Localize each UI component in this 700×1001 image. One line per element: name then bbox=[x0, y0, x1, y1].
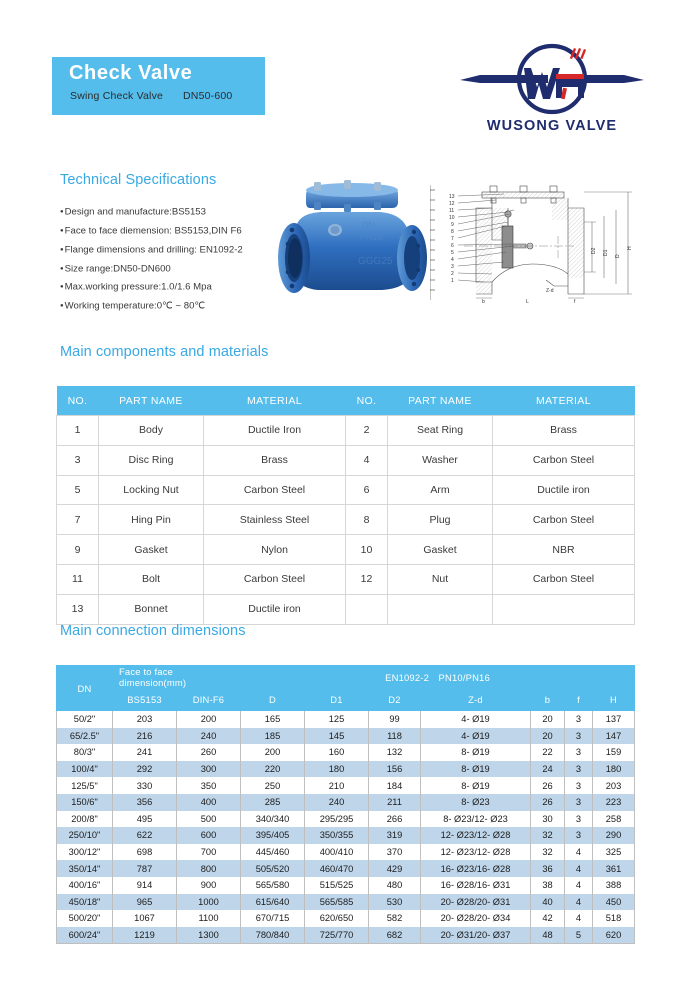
cell: 700 bbox=[177, 844, 241, 861]
cell: 5 bbox=[565, 927, 593, 944]
svg-text:11: 11 bbox=[449, 208, 454, 214]
brand-logo: WUSONG VALVE bbox=[452, 42, 652, 148]
cell: 515/525 bbox=[305, 877, 369, 894]
table-row: 5 Locking Nut Carbon Steel 6 Arm Ductile… bbox=[57, 475, 635, 505]
svg-text:4: 4 bbox=[451, 257, 454, 263]
cell: 350/14" bbox=[57, 860, 113, 877]
col-d2: D2 bbox=[369, 689, 421, 711]
table-row: 1 Body Ductile Iron 2 Seat Ring Brass bbox=[57, 416, 635, 446]
cell: 1 bbox=[57, 416, 99, 446]
cell: 20- Ø28/20- Ø31 bbox=[421, 894, 531, 911]
cell: 3 bbox=[565, 794, 593, 811]
page-title: Check Valve bbox=[69, 62, 192, 85]
cell bbox=[388, 594, 493, 624]
cell: 250/10" bbox=[57, 827, 113, 844]
cell: Gasket bbox=[388, 535, 493, 565]
cell: 4 bbox=[565, 894, 593, 911]
cell: Seat Ring bbox=[388, 416, 493, 446]
cell: 620 bbox=[593, 927, 635, 944]
cell: 12- Ø23/12- Ø28 bbox=[421, 827, 531, 844]
svg-text:5: 5 bbox=[451, 250, 454, 256]
cell: Nut bbox=[388, 564, 493, 594]
cell: 292 bbox=[113, 761, 177, 778]
scale-ruler bbox=[430, 185, 436, 300]
cell: 9 bbox=[57, 535, 99, 565]
cell: 300 bbox=[177, 761, 241, 778]
cell: 211 bbox=[369, 794, 421, 811]
cell: 258 bbox=[593, 811, 635, 828]
spec-item: Working temperature:0℃ ~ 80℃ bbox=[60, 297, 290, 316]
table-row: 13 Bonnet Ductile iron bbox=[57, 594, 635, 624]
cell: 300/12" bbox=[57, 844, 113, 861]
cell: 180 bbox=[305, 761, 369, 778]
col-bs5153: BS5153 bbox=[113, 689, 177, 711]
cell: 241 bbox=[113, 744, 177, 761]
table-row: 80/3" 241 260 200 160 132 8- Ø19 22 3 15… bbox=[57, 744, 635, 761]
cell: 290 bbox=[593, 827, 635, 844]
svg-text:6: 6 bbox=[451, 243, 454, 249]
cell: 620/650 bbox=[305, 910, 369, 927]
cell: 600 bbox=[177, 827, 241, 844]
table-row: 100/4" 292 300 220 180 156 8- Ø19 24 3 1… bbox=[57, 761, 635, 778]
cell: 900 bbox=[177, 877, 241, 894]
cell: 450 bbox=[593, 894, 635, 911]
cell: Brass bbox=[204, 445, 346, 475]
cell: Gasket bbox=[99, 535, 204, 565]
cell: 210 bbox=[305, 777, 369, 794]
cell: 48 bbox=[531, 927, 565, 944]
svg-text:D: D bbox=[615, 254, 621, 258]
svg-text:Z-d: Z-d bbox=[546, 288, 554, 294]
cell: 165 bbox=[241, 711, 305, 728]
cell: 445/460 bbox=[241, 844, 305, 861]
cell: 99 bbox=[369, 711, 421, 728]
cell: 4 bbox=[565, 910, 593, 927]
svg-text:10: 10 bbox=[449, 215, 455, 221]
cell: 2 bbox=[346, 416, 388, 446]
table-row: 150/6" 356 400 285 240 211 8- Ø23 26 3 2… bbox=[57, 794, 635, 811]
cell: 20 bbox=[531, 728, 565, 745]
spec-item: Face to face diemension: BS5153,DIN F6 bbox=[60, 222, 290, 241]
table-row: 11 Bolt Carbon Steel 12 Nut Carbon Steel bbox=[57, 564, 635, 594]
cell: 240 bbox=[177, 728, 241, 745]
table-row: 500/20" 1067 1100 670/715 620/650 582 20… bbox=[57, 910, 635, 927]
cell: 32 bbox=[531, 827, 565, 844]
cell: 260 bbox=[177, 744, 241, 761]
cell: 203 bbox=[113, 711, 177, 728]
svg-text:H: H bbox=[627, 246, 633, 250]
valve-product-photo: DN PN16 GGG25 bbox=[262, 178, 442, 308]
cell: Hing Pin bbox=[99, 505, 204, 535]
table-row: 125/5" 330 350 250 210 184 8- Ø19 26 3 2… bbox=[57, 777, 635, 794]
cell: 3 bbox=[565, 744, 593, 761]
col-material-2: MATERIAL bbox=[493, 386, 635, 416]
cell: 670/715 bbox=[241, 910, 305, 927]
cell: 5 bbox=[57, 475, 99, 505]
spec-item: Size range:DN50-DN600 bbox=[60, 260, 290, 279]
cell: Nylon bbox=[204, 535, 346, 565]
col-no-1: NO. bbox=[57, 386, 99, 416]
table-header-row: BS5153 DIN-F6 D D1 D2 Z-d b f H bbox=[57, 689, 635, 711]
table-row: 450/18" 965 1000 615/640 565/585 530 20-… bbox=[57, 894, 635, 911]
cell: 480 bbox=[369, 877, 421, 894]
cell: 1000 bbox=[177, 894, 241, 911]
cell: Locking Nut bbox=[99, 475, 204, 505]
cell: 914 bbox=[113, 877, 177, 894]
svg-text:9: 9 bbox=[451, 222, 454, 228]
cell: 26 bbox=[531, 777, 565, 794]
cell: 565/585 bbox=[305, 894, 369, 911]
cell: 4 bbox=[565, 877, 593, 894]
cell: 800 bbox=[177, 860, 241, 877]
svg-text:1: 1 bbox=[451, 278, 454, 284]
cell: 361 bbox=[593, 860, 635, 877]
cell: 10 bbox=[346, 535, 388, 565]
table-header-row: NO. PART NAME MATERIAL NO. PART NAME MAT… bbox=[57, 386, 635, 416]
col-material-1: MATERIAL bbox=[204, 386, 346, 416]
cell: 1100 bbox=[177, 910, 241, 927]
cell: 395/405 bbox=[241, 827, 305, 844]
cell bbox=[493, 594, 635, 624]
technical-specifications-heading: Technical Specifications bbox=[60, 172, 216, 188]
table-row: 200/8" 495 500 340/340 295/295 266 8- Ø2… bbox=[57, 811, 635, 828]
cell: 240 bbox=[305, 794, 369, 811]
cell: Ductile iron bbox=[204, 594, 346, 624]
cell: 6 bbox=[346, 475, 388, 505]
cell: 156 bbox=[369, 761, 421, 778]
cell: Washer bbox=[388, 445, 493, 475]
group-face-to-face: Face to face dimension(mm) bbox=[113, 666, 241, 689]
table-row: 7 Hing Pin Stainless Steel 8 Plug Carbon… bbox=[57, 505, 635, 535]
cell: 184 bbox=[369, 777, 421, 794]
table-row: 350/14" 787 800 505/520 460/470 429 16- … bbox=[57, 860, 635, 877]
cell: 400 bbox=[177, 794, 241, 811]
cell: 350/355 bbox=[305, 827, 369, 844]
cell: 4 bbox=[565, 844, 593, 861]
cell: Brass bbox=[493, 416, 635, 446]
cell: 50/2" bbox=[57, 711, 113, 728]
table-row: 50/2" 203 200 165 125 99 4- Ø19 20 3 137 bbox=[57, 711, 635, 728]
cell: 266 bbox=[369, 811, 421, 828]
valve-technical-drawing: 131211 1098 765 432 1 Z-d b f L D2 D1 D … bbox=[446, 182, 646, 304]
cell: 530 bbox=[369, 894, 421, 911]
cell: 30 bbox=[531, 811, 565, 828]
col-b: b bbox=[531, 689, 565, 711]
cell: 400/410 bbox=[305, 844, 369, 861]
cell: NBR bbox=[493, 535, 635, 565]
spec-item: Max.working pressure:1.0/1.6 Mpa bbox=[60, 278, 290, 297]
cell: 8- Ø23 bbox=[421, 794, 531, 811]
cell: 518 bbox=[593, 910, 635, 927]
cell: 500 bbox=[177, 811, 241, 828]
cell: 16- Ø28/16- Ø31 bbox=[421, 877, 531, 894]
cell: 3 bbox=[565, 777, 593, 794]
svg-text:DN: DN bbox=[362, 220, 375, 230]
cell: 118 bbox=[369, 728, 421, 745]
table-header-group-row: DN Face to face dimension(mm) EN1092-2 P… bbox=[57, 666, 635, 689]
cell: 3 bbox=[57, 445, 99, 475]
svg-text:GGG25: GGG25 bbox=[358, 256, 393, 267]
cell: 223 bbox=[593, 794, 635, 811]
cell: 8- Ø19 bbox=[421, 744, 531, 761]
cell: Carbon Steel bbox=[204, 475, 346, 505]
group-en1092: EN1092-2 PN10/PN16 bbox=[241, 666, 635, 689]
main-connection-dimensions-table: DN Face to face dimension(mm) EN1092-2 P… bbox=[56, 665, 635, 944]
cell: 150/6" bbox=[57, 794, 113, 811]
svg-text:b: b bbox=[482, 299, 485, 304]
cell: Carbon Steel bbox=[493, 505, 635, 535]
cell: 450/18" bbox=[57, 894, 113, 911]
main-connection-dimensions-heading: Main connection dimensions bbox=[60, 623, 246, 639]
cell: 180 bbox=[593, 761, 635, 778]
svg-text:7: 7 bbox=[451, 236, 454, 242]
cell: Disc Ring bbox=[99, 445, 204, 475]
col-no-2: NO. bbox=[346, 386, 388, 416]
col-dn: DN bbox=[57, 666, 113, 711]
cell: 356 bbox=[113, 794, 177, 811]
cell: 285 bbox=[241, 794, 305, 811]
svg-text:L: L bbox=[526, 299, 529, 304]
cell: 24 bbox=[531, 761, 565, 778]
cell: 350 bbox=[177, 777, 241, 794]
page-size-range: DN50-600 bbox=[183, 90, 232, 102]
cell: Bolt bbox=[99, 564, 204, 594]
cell: Stainless Steel bbox=[204, 505, 346, 535]
cell: 4 bbox=[565, 860, 593, 877]
cell: 137 bbox=[593, 711, 635, 728]
cell: 20 bbox=[531, 711, 565, 728]
cell: 682 bbox=[369, 927, 421, 944]
technical-specifications-list: Design and manufacture:BS5153 Face to fa… bbox=[60, 203, 290, 316]
cell: 12 bbox=[346, 564, 388, 594]
main-components-heading: Main components and materials bbox=[60, 344, 268, 360]
cell: Carbon Steel bbox=[204, 564, 346, 594]
cell: Carbon Steel bbox=[493, 564, 635, 594]
svg-text:PN16: PN16 bbox=[360, 232, 383, 242]
cell: 12- Ø23/12- Ø28 bbox=[421, 844, 531, 861]
cell: 11 bbox=[57, 564, 99, 594]
cell: 185 bbox=[241, 728, 305, 745]
svg-text:8: 8 bbox=[451, 229, 454, 235]
cell: 698 bbox=[113, 844, 177, 861]
cell: 8- Ø19 bbox=[421, 761, 531, 778]
cell: 200/8" bbox=[57, 811, 113, 828]
wusong-logo-icon bbox=[452, 42, 652, 120]
cell: 3 bbox=[565, 711, 593, 728]
cell: Arm bbox=[388, 475, 493, 505]
cell: 8- Ø19 bbox=[421, 777, 531, 794]
svg-text:f: f bbox=[574, 299, 576, 304]
table-row: 300/12" 698 700 445/460 400/410 370 12- … bbox=[57, 844, 635, 861]
col-din-f6: DIN-F6 bbox=[177, 689, 241, 711]
cell: 20- Ø28/20- Ø34 bbox=[421, 910, 531, 927]
cell: 295/295 bbox=[305, 811, 369, 828]
cell: 200 bbox=[177, 711, 241, 728]
cell: 220 bbox=[241, 761, 305, 778]
cell: 1067 bbox=[113, 910, 177, 927]
cell: 340/340 bbox=[241, 811, 305, 828]
cell: 8 bbox=[346, 505, 388, 535]
cell: 32 bbox=[531, 844, 565, 861]
cell: 615/640 bbox=[241, 894, 305, 911]
cell: 125/5" bbox=[57, 777, 113, 794]
table-row: 9 Gasket Nylon 10 Gasket NBR bbox=[57, 535, 635, 565]
cell: 725/770 bbox=[305, 927, 369, 944]
table-row: 65/2.5" 216 240 185 145 118 4- Ø19 20 3 … bbox=[57, 728, 635, 745]
title-banner: Check Valve Swing Check Valve DN50-600 bbox=[52, 57, 265, 115]
cell: 460/470 bbox=[305, 860, 369, 877]
cell: 26 bbox=[531, 794, 565, 811]
svg-text:D1: D1 bbox=[603, 249, 609, 256]
cell: 65/2.5" bbox=[57, 728, 113, 745]
cell: 330 bbox=[113, 777, 177, 794]
col-part-name-1: PART NAME bbox=[99, 386, 204, 416]
cell: 500/20" bbox=[57, 910, 113, 927]
cell: 400/16" bbox=[57, 877, 113, 894]
cell bbox=[346, 594, 388, 624]
cell: 787 bbox=[113, 860, 177, 877]
cell: 325 bbox=[593, 844, 635, 861]
cell: 565/580 bbox=[241, 877, 305, 894]
cell: Bonnet bbox=[99, 594, 204, 624]
spec-item: Flange dimensions and drilling: EN1092-2 bbox=[60, 241, 290, 260]
col-part-name-2: PART NAME bbox=[388, 386, 493, 416]
svg-text:D2: D2 bbox=[591, 247, 597, 254]
cell: 582 bbox=[369, 910, 421, 927]
svg-text:2: 2 bbox=[451, 271, 454, 277]
cell: 147 bbox=[593, 728, 635, 745]
cell: 780/840 bbox=[241, 927, 305, 944]
col-z-d: Z-d bbox=[421, 689, 531, 711]
cell: 3 bbox=[565, 728, 593, 745]
cell: 125 bbox=[305, 711, 369, 728]
cell: Carbon Steel bbox=[493, 445, 635, 475]
cell: 600/24" bbox=[57, 927, 113, 944]
page-subtitle: Swing Check Valve bbox=[70, 90, 163, 102]
cell: 388 bbox=[593, 877, 635, 894]
brand-name: WUSONG VALVE bbox=[452, 118, 652, 134]
cell: 250 bbox=[241, 777, 305, 794]
cell: 40 bbox=[531, 894, 565, 911]
cell: 965 bbox=[113, 894, 177, 911]
table-row: 3 Disc Ring Brass 4 Washer Carbon Steel bbox=[57, 445, 635, 475]
cell: 36 bbox=[531, 860, 565, 877]
col-d1: D1 bbox=[305, 689, 369, 711]
cell: 159 bbox=[593, 744, 635, 761]
cell: 20- Ø31/20- Ø37 bbox=[421, 927, 531, 944]
svg-text:3: 3 bbox=[451, 264, 454, 270]
cell: 3 bbox=[565, 827, 593, 844]
cell: 13 bbox=[57, 594, 99, 624]
cell: 203 bbox=[593, 777, 635, 794]
cell: Body bbox=[99, 416, 204, 446]
spec-item: Design and manufacture:BS5153 bbox=[60, 203, 290, 222]
cell: 1300 bbox=[177, 927, 241, 944]
cell: 4 bbox=[346, 445, 388, 475]
cell: 4- Ø19 bbox=[421, 711, 531, 728]
cell: 16- Ø23/16- Ø28 bbox=[421, 860, 531, 877]
cell: 3 bbox=[565, 761, 593, 778]
table-row: 250/10" 622 600 395/405 350/355 319 12- … bbox=[57, 827, 635, 844]
page-header: Check Valve Swing Check Valve DN50-600 W… bbox=[0, 0, 700, 160]
col-f: f bbox=[565, 689, 593, 711]
cell: 160 bbox=[305, 744, 369, 761]
cell: 319 bbox=[369, 827, 421, 844]
table-row: 600/24" 1219 1300 780/840 725/770 682 20… bbox=[57, 927, 635, 944]
cell: Ductile Iron bbox=[204, 416, 346, 446]
svg-text:13: 13 bbox=[449, 194, 455, 200]
cell: 505/520 bbox=[241, 860, 305, 877]
cell: 42 bbox=[531, 910, 565, 927]
cell: 216 bbox=[113, 728, 177, 745]
cell: 100/4" bbox=[57, 761, 113, 778]
main-components-table: NO. PART NAME MATERIAL NO. PART NAME MAT… bbox=[56, 386, 635, 625]
cell: 429 bbox=[369, 860, 421, 877]
cell: 80/3" bbox=[57, 744, 113, 761]
col-h: H bbox=[593, 689, 635, 711]
cell: 3 bbox=[565, 811, 593, 828]
cell: 1219 bbox=[113, 927, 177, 944]
cell: 4- Ø19 bbox=[421, 728, 531, 745]
cell: Plug bbox=[388, 505, 493, 535]
cell: 7 bbox=[57, 505, 99, 535]
svg-text:12: 12 bbox=[449, 201, 455, 207]
cell: 370 bbox=[369, 844, 421, 861]
cell: 622 bbox=[113, 827, 177, 844]
cell: 200 bbox=[241, 744, 305, 761]
cell: 38 bbox=[531, 877, 565, 894]
cell: 132 bbox=[369, 744, 421, 761]
col-d: D bbox=[241, 689, 305, 711]
cell: 8- Ø23/12- Ø23 bbox=[421, 811, 531, 828]
table-row: 400/16" 914 900 565/580 515/525 480 16- … bbox=[57, 877, 635, 894]
cell: Ductile iron bbox=[493, 475, 635, 505]
cell: 22 bbox=[531, 744, 565, 761]
cell: 495 bbox=[113, 811, 177, 828]
cell: 145 bbox=[305, 728, 369, 745]
